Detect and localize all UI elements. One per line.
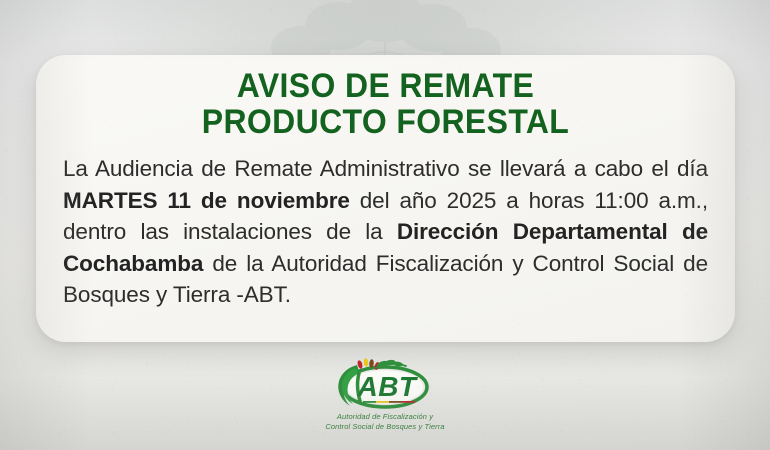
notice-body-text: La Audiencia de Remate Administrativo se… bbox=[60, 153, 711, 311]
logo-subtitle: Autoridad de Fiscalización y Control Soc… bbox=[325, 412, 444, 431]
notice-card: AVISO DE REMATE PRODUCTO FORESTAL La Aud… bbox=[36, 55, 735, 342]
body-segment-intro: La Audiencia de Remate Administrativo se… bbox=[63, 156, 708, 181]
page-title-line-1: AVISO DE REMATE bbox=[80, 68, 692, 104]
svg-text:ABT: ABT bbox=[356, 371, 418, 402]
notice-poster: AVISO DE REMATE PRODUCTO FORESTAL La Aud… bbox=[0, 0, 770, 450]
body-segment-date: MARTES 11 de noviembre bbox=[63, 188, 350, 213]
abt-logo-block: ABT Autoridad de Fiscalización y Control… bbox=[0, 358, 770, 431]
logo-subtitle-line-1: Autoridad de Fiscalización y bbox=[325, 412, 444, 422]
page-title-line-2: PRODUCTO FORESTAL bbox=[80, 104, 692, 140]
logo-subtitle-line-2: Control Social de Bosques y Tierra bbox=[325, 422, 444, 432]
abt-logo-icon: ABT bbox=[322, 358, 448, 410]
